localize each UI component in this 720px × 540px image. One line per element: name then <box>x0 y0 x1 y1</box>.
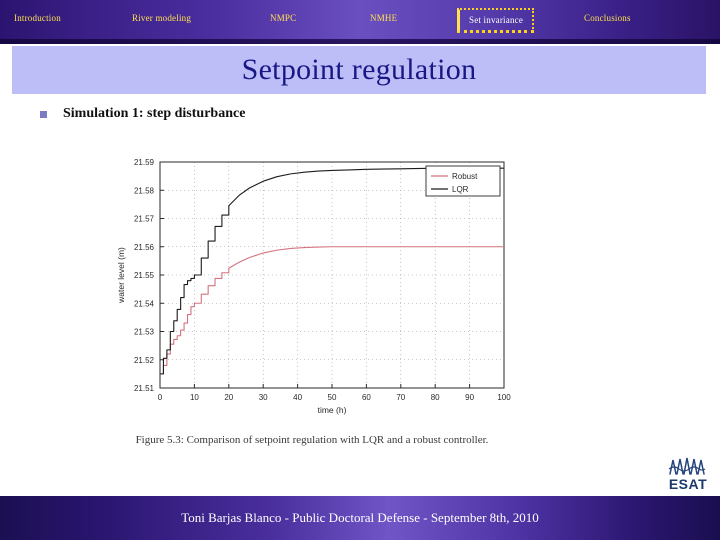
svg-text:Robust: Robust <box>452 172 478 181</box>
setpoint-regulation-chart: 010203040506070809010021.5121.5221.5321.… <box>112 150 512 428</box>
esat-logo: ESAT <box>664 456 712 494</box>
footer-text: Toni Barjas Blanco - Public Doctoral Def… <box>0 496 720 540</box>
figure-container: 010203040506070809010021.5121.5221.5321.… <box>112 150 512 462</box>
figure-caption: Figure 5.3: Comparison of setpoint regul… <box>112 434 512 446</box>
esat-wave-icon <box>664 456 712 476</box>
svg-text:time (h): time (h) <box>318 405 347 415</box>
svg-text:50: 50 <box>328 393 337 402</box>
svg-text:21.52: 21.52 <box>134 356 155 365</box>
svg-text:90: 90 <box>465 393 474 402</box>
svg-text:LQR: LQR <box>452 185 469 194</box>
svg-text:21.56: 21.56 <box>134 243 155 252</box>
svg-text:0: 0 <box>158 393 163 402</box>
slide-footer: Toni Barjas Blanco - Public Doctoral Def… <box>0 496 720 540</box>
slide-title-band: Setpoint regulation <box>12 46 706 94</box>
svg-text:100: 100 <box>497 393 511 402</box>
svg-text:70: 70 <box>396 393 405 402</box>
svg-text:water level (m): water level (m) <box>116 247 126 304</box>
svg-text:21.57: 21.57 <box>134 215 155 224</box>
svg-text:20: 20 <box>224 393 233 402</box>
svg-text:60: 60 <box>362 393 371 402</box>
nav-item-river-modeling[interactable]: River modeling <box>132 13 191 23</box>
svg-text:40: 40 <box>293 393 302 402</box>
bullet-item-label: Simulation 1: step disturbance <box>63 106 245 122</box>
svg-text:21.54: 21.54 <box>134 299 155 308</box>
svg-text:21.58: 21.58 <box>134 186 155 195</box>
svg-text:21.55: 21.55 <box>134 271 155 280</box>
nav-item-nmhe[interactable]: NMHE <box>370 13 397 23</box>
bullet-list-item: Simulation 1: step disturbance <box>40 106 245 122</box>
page-title: Setpoint regulation <box>12 46 706 94</box>
nav-item-nmpc[interactable]: NMPC <box>270 13 296 23</box>
svg-text:10: 10 <box>190 393 199 402</box>
svg-text:21.59: 21.59 <box>134 158 155 167</box>
svg-text:21.51: 21.51 <box>134 384 155 393</box>
svg-text:80: 80 <box>431 393 440 402</box>
slide-navigation-bar: Introduction River modeling NMPC NMHE Se… <box>0 0 720 44</box>
square-bullet-icon <box>40 111 47 118</box>
nav-item-set-invariance[interactable]: Set invariance <box>457 8 534 33</box>
nav-item-conclusions[interactable]: Conclusions <box>584 13 631 23</box>
presentation-slide: Introduction River modeling NMPC NMHE Se… <box>0 0 720 540</box>
nav-item-introduction[interactable]: Introduction <box>14 13 61 23</box>
svg-text:21.53: 21.53 <box>134 328 155 337</box>
svg-text:30: 30 <box>259 393 268 402</box>
esat-logo-text: ESAT <box>664 476 712 492</box>
